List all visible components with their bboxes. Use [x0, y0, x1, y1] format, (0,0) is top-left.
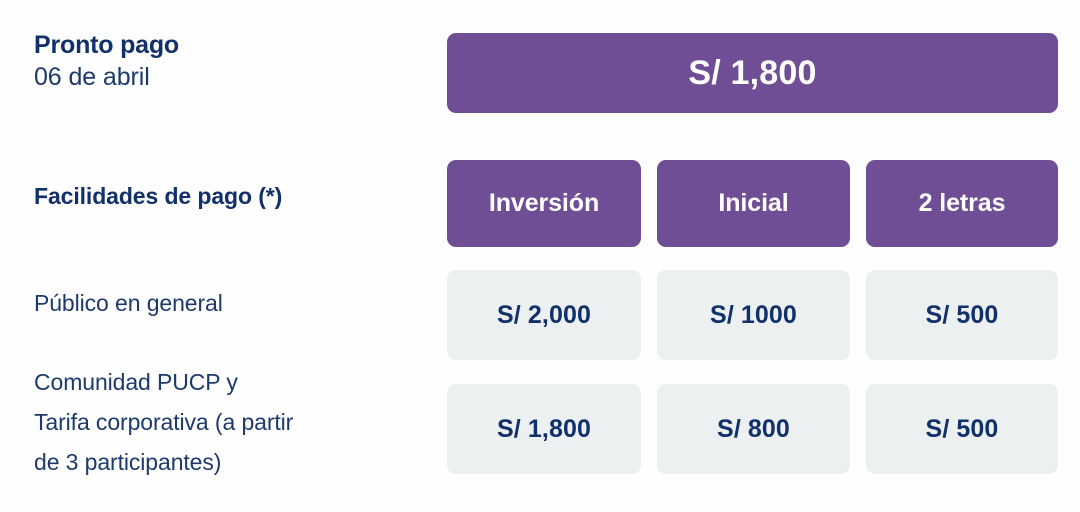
pronto-pago-date: 06 de abril: [34, 60, 434, 94]
price-cell: S/ 500: [866, 270, 1058, 360]
price-cell: S/ 1,800: [447, 384, 641, 474]
column-header-inicial: Inicial: [657, 160, 850, 247]
price-value: S/ 1000: [710, 301, 797, 330]
pronto-pago-amount-card: S/ 1,800: [447, 33, 1058, 113]
column-header-label: Inversión: [489, 189, 599, 218]
price-cell: S/ 800: [657, 384, 850, 474]
price-value: S/ 1,800: [497, 415, 591, 444]
price-cell: S/ 500: [866, 384, 1058, 474]
price-value: S/ 500: [926, 301, 999, 330]
row-label-line: Comunidad PUCP y: [34, 362, 434, 402]
column-header-inversion: Inversión: [447, 160, 641, 247]
price-value: S/ 500: [926, 415, 999, 444]
column-header-label: Inicial: [718, 189, 788, 218]
row-label-publico-en-general: Público en general: [34, 288, 434, 318]
pricing-table: Pronto pago 06 de abril S/ 1,800 Facilid…: [0, 0, 1080, 512]
price-value: S/ 800: [717, 415, 790, 444]
pronto-pago-amount-value: S/ 1,800: [688, 54, 816, 93]
price-cell: S/ 1000: [657, 270, 850, 360]
price-cell: S/ 2,000: [447, 270, 641, 360]
column-header-2-letras: 2 letras: [866, 160, 1058, 247]
facilidades-de-pago-label: Facilidades de pago (*): [34, 181, 434, 211]
price-value: S/ 2,000: [497, 301, 591, 330]
pronto-pago-title: Pronto pago: [34, 30, 434, 60]
column-header-label: 2 letras: [919, 189, 1006, 218]
row-label-line: de 3 participantes): [34, 442, 434, 482]
row-label-comunidad-pucp: Comunidad PUCP yTarifa corporativa (a pa…: [34, 362, 434, 482]
pronto-pago-label-block: Pronto pago 06 de abril: [34, 30, 434, 94]
row-label-line: Tarifa corporativa (a partir: [34, 402, 434, 442]
